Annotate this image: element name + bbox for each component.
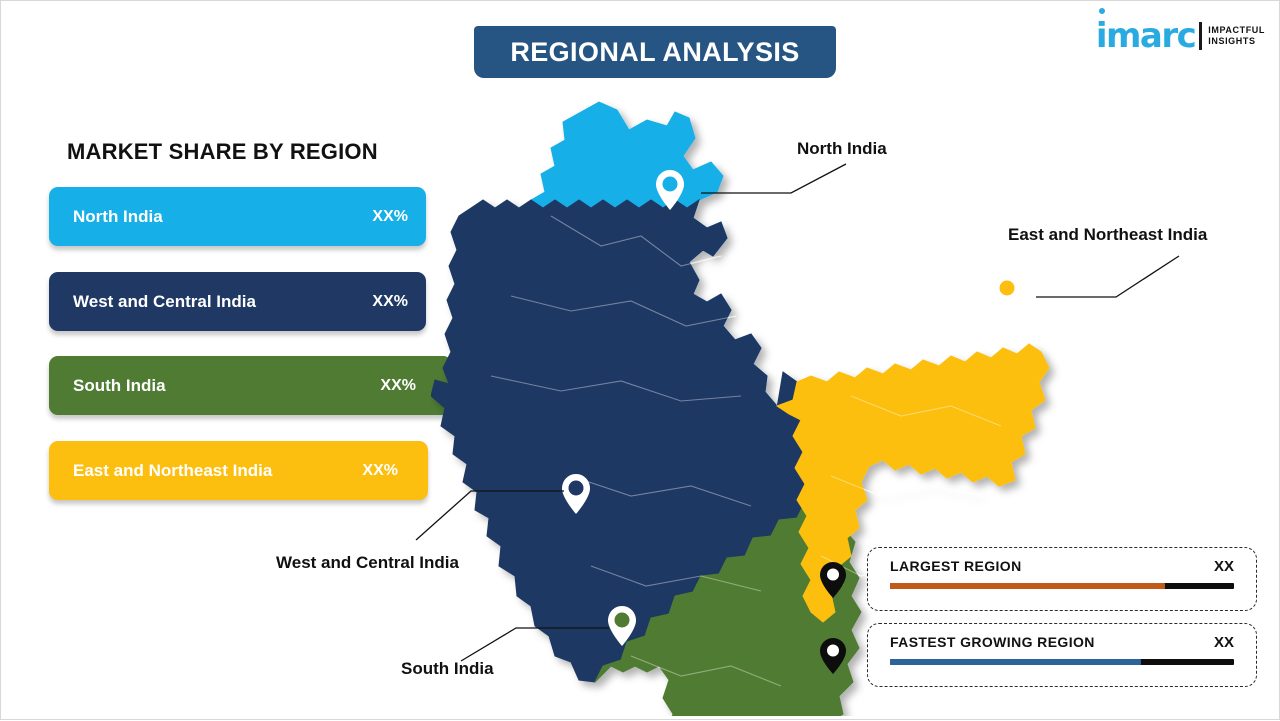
stat-card-label: LARGEST REGION bbox=[890, 558, 1022, 574]
imarc-logo: imarc IMPACTFUL INSIGHTS bbox=[1096, 15, 1265, 57]
legend-item-value: XX% bbox=[362, 462, 398, 480]
page-title: REGIONAL ANALYSIS bbox=[510, 37, 799, 68]
map-label-east-and-northeast-india: East and Northeast India bbox=[1008, 225, 1207, 245]
legend-item-south-india[interactable]: South India XX% bbox=[49, 356, 452, 415]
stat-progress-track bbox=[890, 659, 1234, 665]
stat-card-value: XX bbox=[1214, 558, 1234, 575]
stat-progress-fill bbox=[890, 583, 1165, 589]
stat-card-label: FASTEST GROWING REGION bbox=[890, 634, 1095, 650]
imarc-wordmark: imarc bbox=[1096, 19, 1195, 53]
map-label-west-and-central-india: West and Central India bbox=[276, 553, 459, 573]
stat-card-value: XX bbox=[1214, 634, 1234, 651]
legend-item-west-and-central-india[interactable]: West and Central India XX% bbox=[49, 272, 426, 331]
stat-progress-track bbox=[890, 583, 1234, 589]
map-label-north-india: North India bbox=[797, 139, 887, 159]
stat-card-header: FASTEST GROWING REGION XX bbox=[868, 624, 1256, 651]
logo-tagline: IMPACTFUL INSIGHTS bbox=[1208, 25, 1265, 47]
largest-region-pin-icon bbox=[819, 561, 847, 599]
logo-tagline-line2: INSIGHTS bbox=[1208, 36, 1265, 47]
logo-tagline-line1: IMPACTFUL bbox=[1208, 25, 1265, 36]
legend-title: MARKET SHARE BY REGION bbox=[67, 139, 378, 165]
fastest-growing-region-pin-icon bbox=[819, 637, 847, 675]
map-pin-south-india-icon[interactable] bbox=[607, 605, 637, 647]
map-pin-west-and-central-india-icon[interactable] bbox=[561, 473, 591, 515]
legend-item-label: South India bbox=[73, 376, 166, 396]
stat-card-header: LARGEST REGION XX bbox=[868, 548, 1256, 575]
map-pin-east-and-northeast-india-icon[interactable] bbox=[992, 273, 1022, 315]
map-label-south-india: South India bbox=[401, 659, 494, 679]
legend-item-value: XX% bbox=[380, 377, 416, 395]
stat-card-largest-region[interactable]: LARGEST REGION XX bbox=[867, 547, 1257, 611]
map-pin-north-india-icon[interactable] bbox=[655, 169, 685, 211]
legend-item-label: North India bbox=[73, 207, 163, 227]
legend-item-value: XX% bbox=[372, 208, 408, 226]
logo-divider bbox=[1199, 22, 1202, 50]
page-title-banner: REGIONAL ANALYSIS bbox=[474, 26, 836, 78]
legend-item-east-and-northeast-india[interactable]: East and Northeast India XX% bbox=[49, 441, 428, 500]
logo-dot-icon bbox=[1099, 8, 1105, 14]
legend-item-value: XX% bbox=[372, 293, 408, 311]
stat-progress-fill bbox=[890, 659, 1141, 665]
legend-item-north-india[interactable]: North India XX% bbox=[49, 187, 426, 246]
legend-item-label: West and Central India bbox=[73, 292, 256, 312]
legend-item-label: East and Northeast India bbox=[73, 461, 272, 481]
stat-card-fastest-growing-region[interactable]: FASTEST GROWING REGION XX bbox=[867, 623, 1257, 687]
